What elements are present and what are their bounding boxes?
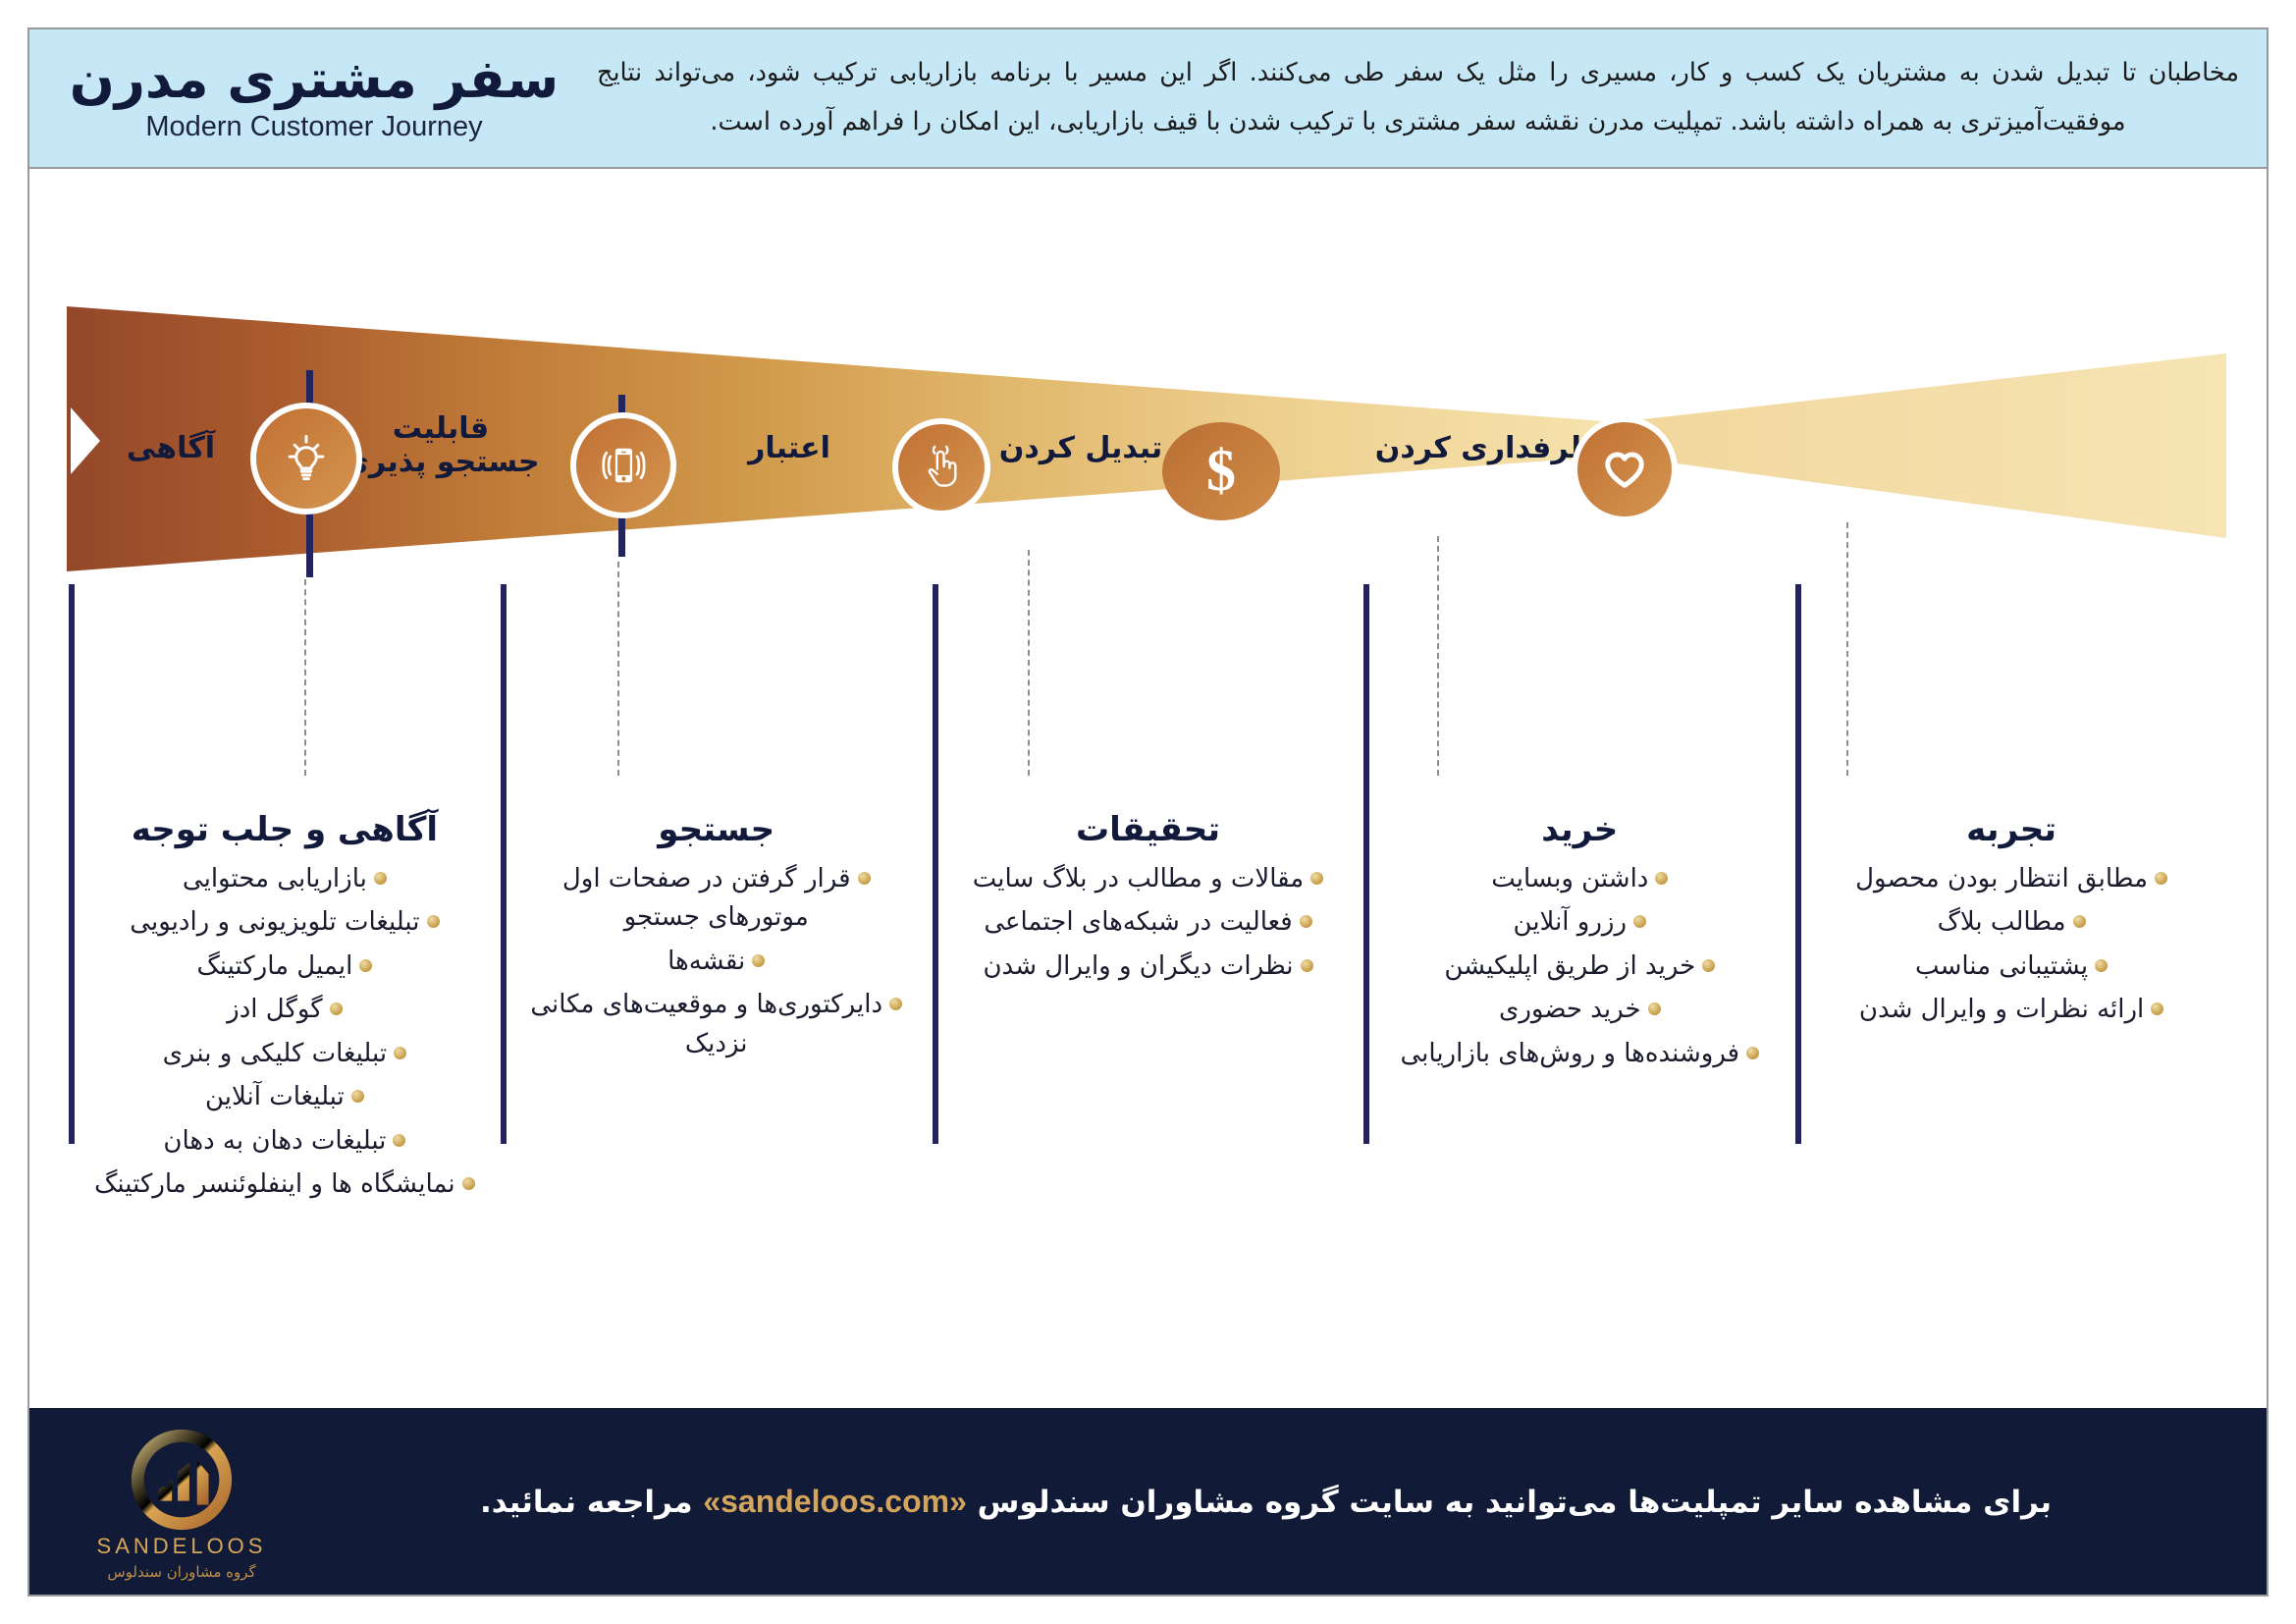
list-item-label: مطالب بلاگ [1938,907,2066,937]
column-awareness: آگاهی و جلب توجه بازاریابی محتوایی تبلیغ… [69,810,501,1360]
list-item: تبلیغات تلویزیونی و رادیویی [94,903,475,943]
bullet-icon [462,1177,475,1190]
column-divider-3 [933,584,938,1144]
bullet-icon [858,872,871,885]
dropline-5 [1846,522,1850,776]
column-list: مقالات و مطالب در بلاگ سایت فعالیت در شب… [958,860,1339,987]
dropline-3 [1028,550,1032,776]
column-list: قرار گرفتن در صفحات اول موتورهای جستجو ن… [526,860,907,1064]
bullet-icon [2151,1002,2163,1015]
detail-columns: آگاهی و جلب توجه بازاریابی محتوایی تبلیغ… [69,810,2227,1360]
funnel-stage-label-awareness: آگاهی [92,432,249,465]
dropline-2 [617,562,621,776]
bullet-icon [752,954,765,967]
infographic-page: سفر مشتری مدرن Modern Customer Journey م… [0,0,2296,1624]
column-heading: خرید [1389,810,1770,850]
footer-text-after: مراجعه نمائید. [480,1485,693,1520]
lightbulb-icon-badge[interactable] [250,403,362,514]
list-item: بازاریابی محتوایی [94,860,475,899]
bullet-icon [1300,915,1312,928]
dollar-icon: $ [1194,439,1249,504]
list-item-label: فروشنده‌ها و روش‌های بازاریابی [1400,1039,1739,1068]
list-item: نمایشگاه ها و اینفلوئنسر مارکتینگ [94,1165,475,1205]
column-heading: جستجو [526,810,907,850]
list-item-label: پشتیبانی مناسب [1915,951,2088,981]
list-item: نظرات دیگران و وایرال شدن [958,947,1339,987]
list-item-label: نمایشگاه ها و اینفلوئنسر مارکتینگ [94,1169,454,1199]
svg-text:$: $ [1206,439,1236,503]
column-heading: تحقیقات [958,810,1339,850]
column-divider-2 [501,584,507,1144]
list-item: ایمیل مارکتینگ [94,947,475,987]
column-heading: آگاهی و جلب توجه [94,810,475,850]
bullet-icon [1633,915,1646,928]
list-item: فروشنده‌ها و روش‌های بازاریابی [1389,1035,1770,1074]
heart-icon [1596,441,1653,498]
column-research: تحقیقات مقالات و مطالب در بلاگ سایت فعال… [933,810,1364,1360]
list-item: تبلیغات آنلاین [94,1078,475,1117]
click-hand-icon-badge[interactable] [892,418,990,516]
list-item-label: تبلیغات آنلاین [205,1082,345,1111]
sandeloos-logo-subtitle: گروه مشاوران سندلوس [107,1563,255,1581]
footer-message: برای مشاهده سایر تمپلیت‌ها می‌توانید به … [324,1478,2267,1526]
funnel-stage-label-conversion: تبدیل کردن [973,432,1189,465]
bullet-icon [393,1134,405,1147]
list-item: پشتیبانی مناسب [1821,947,2202,987]
bullet-icon [330,1002,343,1015]
list-item: مقالات و مطالب در بلاگ سایت [958,860,1339,899]
list-item-label: دایرکتوری‌ها و موقعیت‌های مکانی نزدیک [530,990,882,1058]
bullet-icon [2155,872,2167,885]
smartphone-icon [595,437,652,494]
sandeloos-logo: SANDELOOS گروه مشاوران سندلوس [29,1422,324,1581]
lightbulb-icon [277,429,336,488]
list-item-label: داشتن وبسایت [1491,864,1648,893]
list-item: نقشه‌ها [526,943,907,982]
bullet-icon [1746,1047,1759,1059]
bullet-icon [351,1090,364,1103]
bullet-icon [2073,915,2086,928]
list-item-label: فعالیت در شبکه‌های اجتماعی [984,907,1292,937]
list-item: گوگل ادز [94,991,475,1030]
funnel-arrow-notch [71,407,100,474]
bullet-icon [374,872,387,885]
list-item: رزرو آنلاین [1389,903,1770,943]
list-item: ارائه نظرات و وایرال شدن [1821,991,2202,1030]
list-item: داشتن وبسایت [1389,860,1770,899]
list-item-label: تبلیغات تلویزیونی و رادیویی [130,907,419,937]
list-item: تبلیغات دهان به دهان [94,1122,475,1162]
list-item: خرید از طریق اپلیکیشن [1389,947,1770,987]
list-item-label: ارائه نظرات و وایرال شدن [1859,995,2144,1024]
column-divider-4 [1363,584,1369,1144]
list-item-label: تبلیغات کلیکی و بنری [163,1039,387,1068]
click-hand-icon [915,441,968,494]
list-item-label: رزرو آنلاین [1514,907,1628,937]
bullet-icon [2095,959,2108,972]
funnel-stage-label-credibility: اعتبار [706,432,873,465]
list-item-label: نقشه‌ها [667,947,745,976]
list-item-label: خرید از طریق اپلیکیشن [1444,951,1695,981]
list-item-label: مقالات و مطالب در بلاگ سایت [973,864,1304,893]
bullet-icon [1702,959,1715,972]
list-item-label: بازاریابی محتوایی [183,864,367,893]
funnel-tick-1b [306,511,313,577]
funnel-zone: آگاهی قابلیت جستجو پذیری اعتبار تبدیل کر… [29,169,2267,876]
column-search: جستجو قرار گرفتن در صفحات اول موتورهای ج… [501,810,933,1360]
list-item-label: خرید حضوری [1499,995,1641,1024]
funnel-stage-label-findability: قابلیت جستجو پذیری [328,412,554,478]
list-item: خرید حضوری [1389,991,1770,1030]
list-item-label: تبلیغات دهان به دهان [163,1126,386,1156]
bullet-icon [1655,872,1668,885]
dollar-icon-badge[interactable]: $ [1162,422,1280,520]
list-item: مطابق انتظار بودن محصول [1821,860,2202,899]
sandeloos-logo-icon [124,1422,240,1538]
title-block: سفر مشتری مدرن Modern Customer Journey [29,52,579,143]
bullet-icon [1301,959,1313,972]
bullet-icon [427,915,440,928]
header-bar: سفر مشتری مدرن Modern Customer Journey م… [29,29,2267,169]
footer-bar: SANDELOOS گروه مشاوران سندلوس برای مشاهد… [29,1408,2267,1595]
column-heading: تجربه [1821,810,2202,850]
heart-icon-badge[interactable] [1572,416,1678,522]
page-title-en: Modern Customer Journey [49,110,579,144]
list-item: دایرکتوری‌ها و موقعیت‌های مکانی نزدیک [526,986,907,1063]
infographic-sheet: سفر مشتری مدرن Modern Customer Journey م… [27,27,2269,1597]
column-purchase: خرید داشتن وبسایت رزرو آنلاین خرید از طر… [1363,810,1795,1360]
list-item-label: قرار گرفتن در صفحات اول موتورهای جستجو [562,864,851,933]
list-item-label: گوگل ادز [227,995,323,1024]
list-item: تبلیغات کلیکی و بنری [94,1035,475,1074]
list-item: قرار گرفتن در صفحات اول موتورهای جستجو [526,860,907,938]
list-item-label: نظرات دیگران و وایرال شدن [983,951,1293,981]
bullet-icon [394,1047,406,1059]
bullet-icon [1648,1002,1661,1015]
bullet-icon [1310,872,1323,885]
list-item-label: ایمیل مارکتینگ [196,951,352,981]
column-divider-1 [69,584,75,1144]
column-list: داشتن وبسایت رزرو آنلاین خرید از طریق اپ… [1389,860,1770,1074]
bullet-icon [889,998,902,1010]
header-description: مخاطبان تا تبدیل شدن به مشتریان یک کسب و… [579,49,2267,146]
list-item: فعالیت در شبکه‌های اجتماعی [958,903,1339,943]
bullet-icon [359,959,372,972]
column-divider-5 [1795,584,1801,1144]
page-title-fa: سفر مشتری مدرن [49,52,579,108]
footer-website-link[interactable]: «sandeloos.com» [703,1478,967,1525]
column-experience: تجربه مطابق انتظار بودن محصول مطالب بلاگ… [1795,810,2227,1360]
sandeloos-logo-name: SANDELOOS [97,1534,267,1559]
column-list: بازاریابی محتوایی تبلیغات تلویزیونی و را… [94,860,475,1205]
list-item: مطالب بلاگ [1821,903,2202,943]
smartphone-icon-badge[interactable] [570,412,676,518]
column-list: مطابق انتظار بودن محصول مطالب بلاگ پشتیب… [1821,860,2202,1030]
list-item-label: مطابق انتظار بودن محصول [1855,864,2148,893]
dropline-1 [304,579,308,776]
footer-text-before: برای مشاهده سایر تمپلیت‌ها می‌توانید به … [978,1485,2052,1520]
dropline-4 [1437,536,1441,776]
